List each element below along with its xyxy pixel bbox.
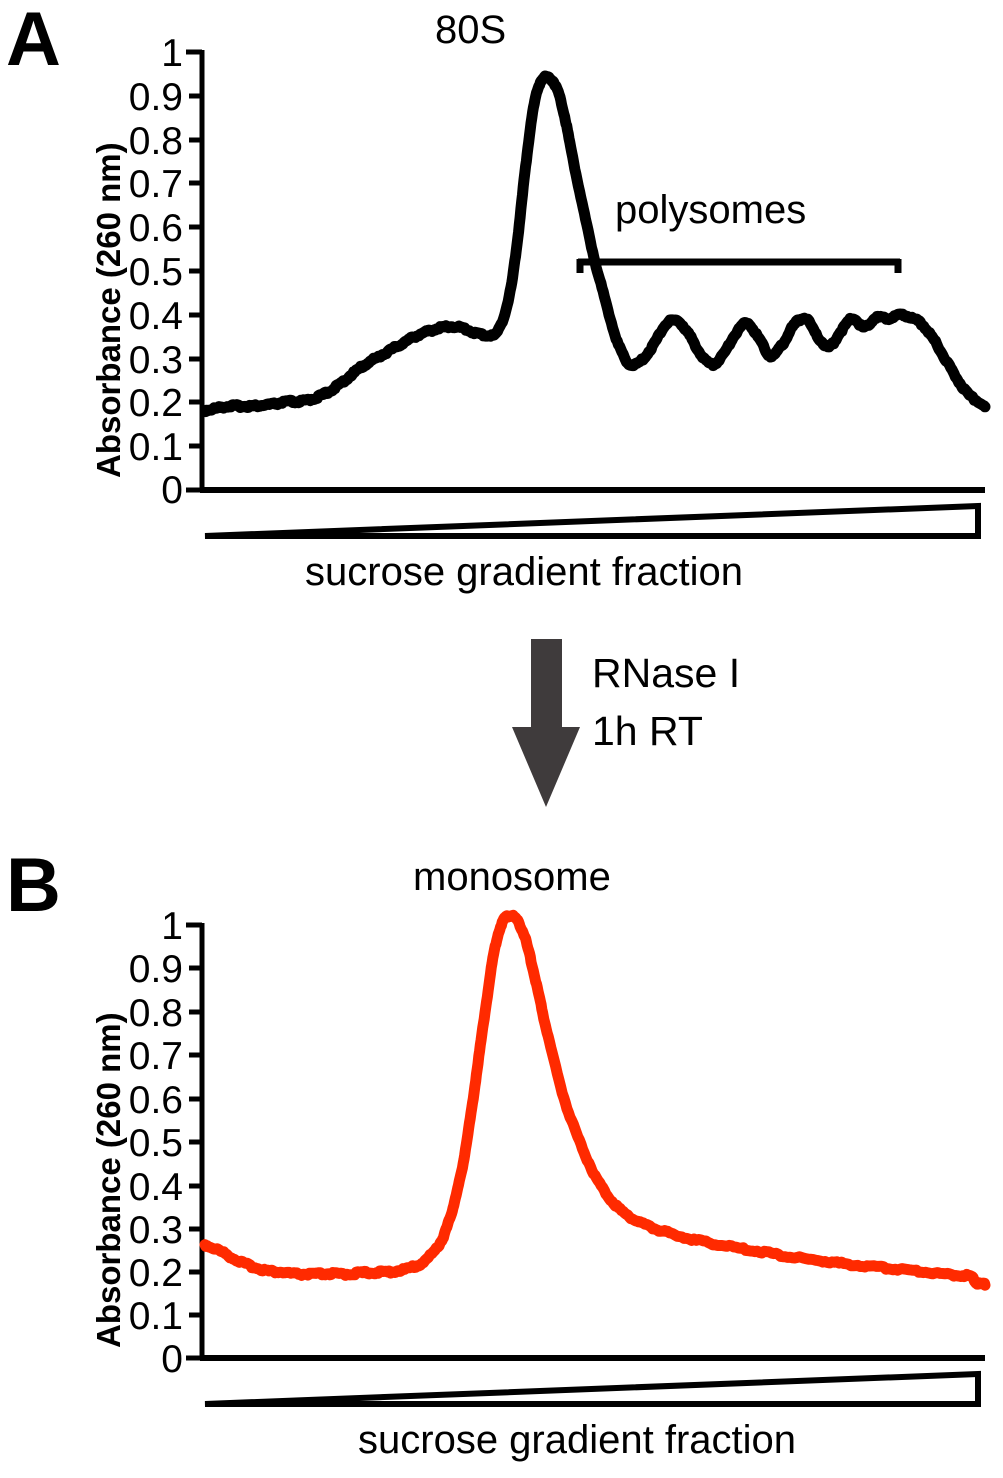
ytick-label: 0.1 <box>129 1295 183 1338</box>
ytick-label: 1 <box>161 905 183 948</box>
ytick-label: 0.3 <box>129 1209 183 1252</box>
panel-b-axes: 1 0.9 0.8 0.7 0.6 0.5 0.4 0.3 0.2 0.1 0 <box>129 905 985 1381</box>
polysomes-bracket <box>578 259 900 273</box>
ytick-label: 0.5 <box>129 1122 183 1165</box>
panel-a-yticklabels: 1 0.9 0.8 0.7 0.6 0.5 0.4 0.3 0.2 0.1 0 <box>129 32 183 512</box>
ytick-label: 0.7 <box>129 163 183 206</box>
panel-b-yticklabels: 1 0.9 0.8 0.7 0.6 0.5 0.4 0.3 0.2 0.1 0 <box>129 905 183 1381</box>
ytick-label: 0 <box>161 469 183 512</box>
trace-panel-b <box>205 915 985 1285</box>
ytick-label: 0.3 <box>129 339 183 382</box>
ytick-label: 0.5 <box>129 251 183 294</box>
ytick-label: 0.6 <box>129 1079 183 1122</box>
ytick-label: 0.9 <box>129 948 183 991</box>
ytick-label: 0.2 <box>129 1252 183 1295</box>
sucrose-wedge-b <box>205 1374 978 1404</box>
trace-panel-a <box>205 76 985 412</box>
ytick-label: 0.7 <box>129 1035 183 1078</box>
ytick-label: 0.9 <box>129 76 183 119</box>
ytick-label: 0 <box>161 1338 183 1381</box>
ytick-label: 0.2 <box>129 382 183 425</box>
ytick-label: 0.8 <box>129 120 183 163</box>
ytick-label: 0.8 <box>129 992 183 1035</box>
ytick-label: 1 <box>161 32 183 75</box>
ytick-label: 0.6 <box>129 207 183 250</box>
rnase-arrow <box>512 639 580 807</box>
ytick-label: 0.4 <box>129 295 183 338</box>
ytick-label: 0.4 <box>129 1166 183 1209</box>
figure-canvas: A B Absorbance (260 nm) Absorbance (260 … <box>0 0 1003 1478</box>
ytick-label: 0.1 <box>129 426 183 469</box>
sucrose-wedge-a <box>205 506 978 536</box>
figure-svg: 1 0.9 0.8 0.7 0.6 0.5 0.4 0.3 0.2 0.1 0 <box>0 0 1003 1478</box>
